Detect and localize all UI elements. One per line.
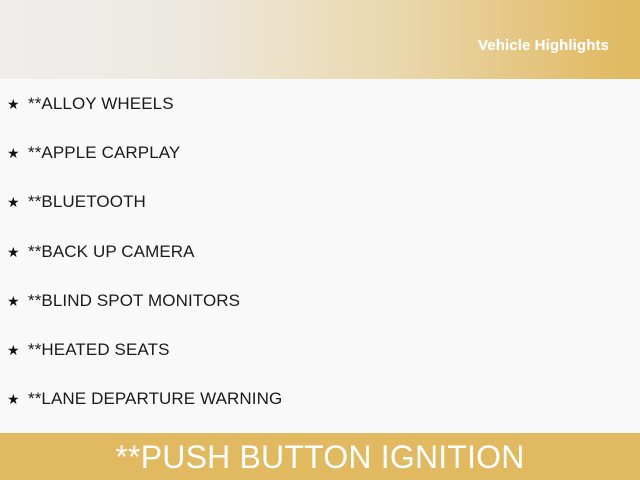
- list-item-label: **LANE DEPARTURE WARNING: [28, 390, 282, 407]
- star-icon: ★: [7, 195, 28, 209]
- list-item: ★ **HEATED SEATS: [0, 341, 640, 390]
- list-item: ★ **APPLE CARPLAY: [0, 144, 640, 193]
- star-icon: ★: [7, 97, 28, 111]
- list-item-label: **BLUETOOTH: [28, 193, 146, 210]
- list-item: ★ **ALLOY WHEELS: [0, 95, 640, 144]
- list-item-label: **HEATED SEATS: [28, 341, 170, 358]
- list-item: ★ **LANE DEPARTURE WARNING: [0, 390, 640, 433]
- star-icon: ★: [7, 245, 28, 259]
- footer-highlight-text: **PUSH BUTTON IGNITION: [115, 441, 524, 473]
- star-icon: ★: [7, 392, 28, 406]
- list-item: ★ **BLIND SPOT MONITORS: [0, 292, 640, 341]
- list-item-label: **ALLOY WHEELS: [28, 95, 174, 112]
- footer-banner: **PUSH BUTTON IGNITION: [0, 433, 640, 480]
- star-icon: ★: [7, 343, 28, 357]
- list-item-label: **APPLE CARPLAY: [28, 144, 180, 161]
- highlights-list: ★ **ALLOY WHEELS ★ **APPLE CARPLAY ★ **B…: [0, 79, 640, 433]
- header-banner: Vehicle Highlights: [0, 0, 640, 79]
- list-item: ★ **BLUETOOTH: [0, 193, 640, 242]
- list-item-label: **BACK UP CAMERA: [28, 243, 195, 260]
- list-item-label: **BLIND SPOT MONITORS: [28, 292, 240, 309]
- vehicle-highlights-page: Vehicle Highlights ★ **ALLOY WHEELS ★ **…: [0, 0, 640, 480]
- star-icon: ★: [7, 294, 28, 308]
- star-icon: ★: [7, 146, 28, 160]
- list-item: ★ **BACK UP CAMERA: [0, 243, 640, 292]
- page-title: Vehicle Highlights: [478, 25, 640, 54]
